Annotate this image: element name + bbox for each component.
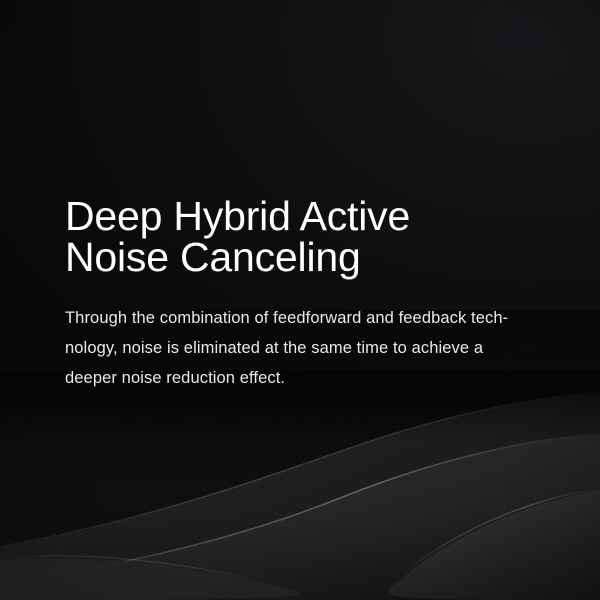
description-text: Through the combination of feedforward a… — [65, 278, 555, 393]
promo-card: Deep Hybrid Active Noise Canceling Throu… — [0, 0, 600, 600]
wavy-fabric-texture — [0, 370, 600, 600]
copy-block: Deep Hybrid Active Noise Canceling Throu… — [65, 196, 555, 393]
page-title: Deep Hybrid Active Noise Canceling — [65, 196, 555, 278]
